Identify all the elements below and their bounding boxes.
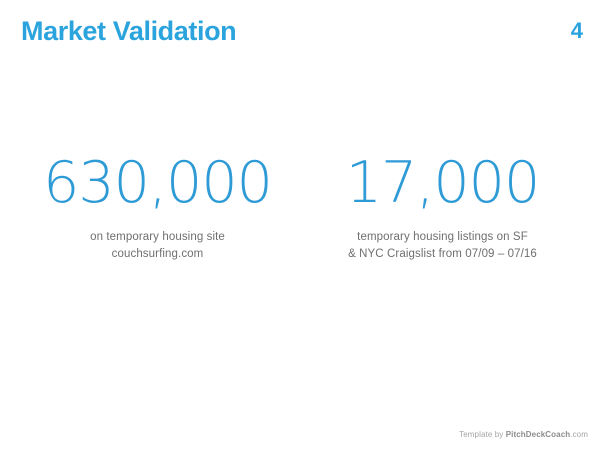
footer-brand: PitchDeckCoach [506,430,571,439]
stat-value: 17,000 [304,150,581,216]
stat-caption-line-2: couchsurfing.com [19,246,296,263]
stat-caption-line-2: & NYC Craigslist from 07/09 – 07/16 [304,246,581,263]
footer-attribution: Template by PitchDeckCoach.com [459,429,588,440]
stat-block-craigslist: 17,000 temporary housing listings on SF … [300,150,585,263]
stats-row: 630,000 on temporary housing site couchs… [0,150,600,263]
stat-caption-line-1: on temporary housing site [19,229,296,246]
stat-caption: on temporary housing site couchsurfing.c… [19,229,296,263]
footer-prefix: Template by [459,430,506,439]
stat-value: 630,000 [19,150,296,216]
stat-caption: temporary housing listings on SF & NYC C… [304,229,581,263]
stat-caption-line-1: temporary housing listings on SF [304,229,581,246]
stat-block-couchsurfing: 630,000 on temporary housing site couchs… [15,150,300,263]
footer-suffix: .com [570,430,588,439]
slide-header: Market Validation 4 [0,0,600,62]
slide: Market Validation 4 630,000 on temporary… [0,0,600,449]
slide-page-number: 4 [571,17,583,45]
page-title: Market Validation [21,14,236,48]
